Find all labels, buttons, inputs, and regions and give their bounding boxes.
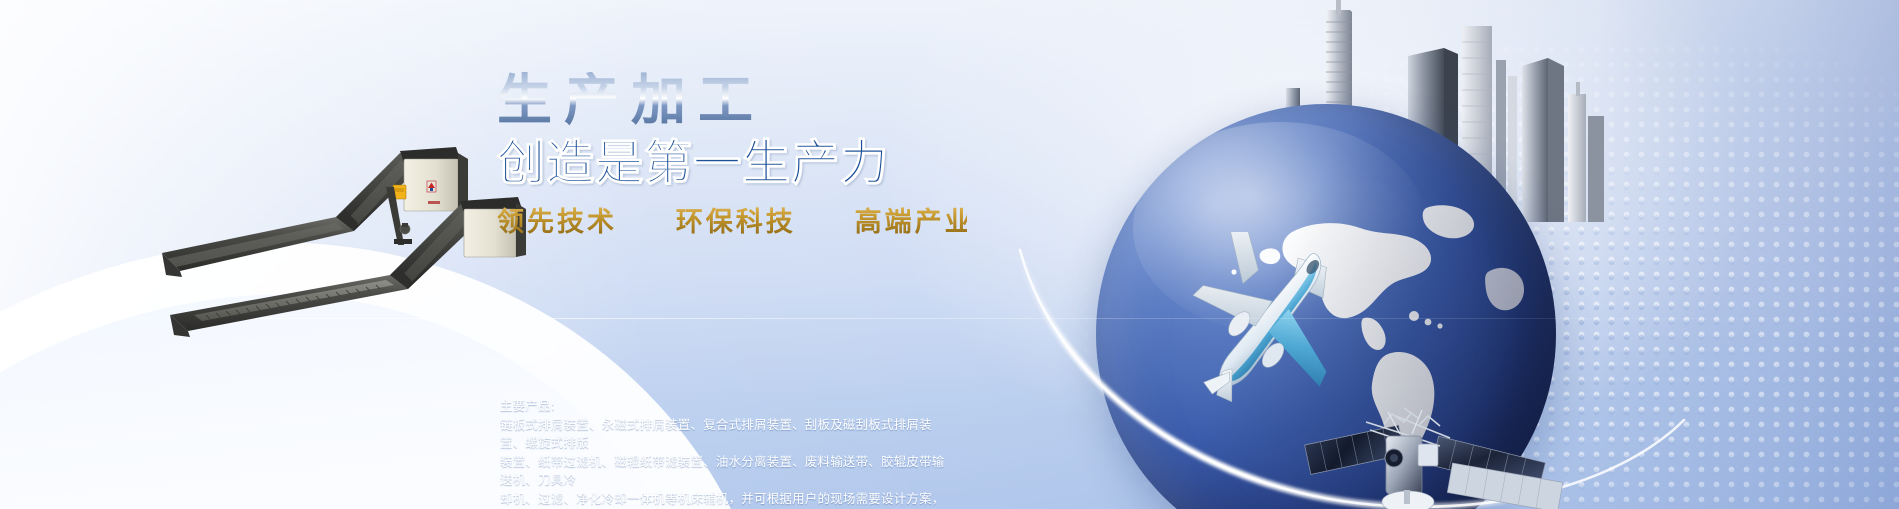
tagline-1: 领先技术 [497, 200, 617, 239]
tagline-row: 领先技术 环保科技 高端产业 [497, 200, 967, 239]
chip-conveyor-machines [150, 125, 530, 340]
product-description: 主要产品: 链板式排屑装置、永磁式排屑装置、复合式排屑装置、刮板及磁刮板式排屑装… [500, 397, 955, 509]
promo-banner: 生产加工 创造是第一生产力 领先技术 环保科技 高端产业 主要产品: 链板式排屑… [0, 0, 1899, 509]
headline-subtitle: 创造是第一生产力 [497, 138, 967, 189]
headline-block: 生产加工 创造是第一生产力 领先技术 环保科技 高端产业 [497, 72, 967, 239]
products-line-1: 链板式排屑装置、永磁式排屑装置、复合式排屑装置、刮板及磁刮板式排屑装置、螺旋式排… [500, 416, 955, 453]
products-line-3: 却机、过滤、净化冷却一体机等机床辅机，并可根据用户的现场需要设计方案，加工制造，… [500, 490, 955, 509]
products-line-2: 装置、纸带过滤机、磁辊纸带滤装置、油水分离装置、废料输送带、胶辊皮带输送机、刀具… [500, 453, 955, 490]
tagline-3: 高端产业 [855, 200, 975, 239]
tagline-2: 环保科技 [676, 200, 796, 239]
satellite [1300, 330, 1570, 509]
page-title: 生产加工 [497, 72, 967, 130]
products-label: 主要产品: [500, 397, 955, 416]
